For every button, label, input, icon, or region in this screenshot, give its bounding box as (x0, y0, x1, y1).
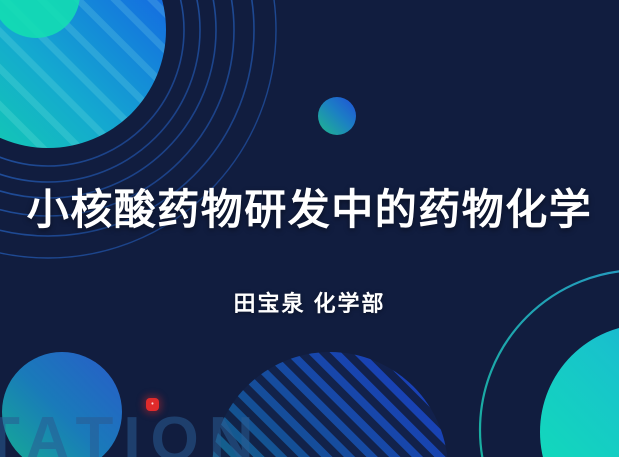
slide-subtitle: 田宝泉 化学部 (0, 286, 619, 318)
slide-title: 小核酸药物研发中的药物化学 (0, 186, 619, 233)
presentation-slide: TATION • 小核酸药物研发中的药物化学 田宝泉 化学部 (0, 0, 619, 457)
slide-text-block: 小核酸药物研发中的药物化学 田宝泉 化学部 (0, 0, 619, 457)
